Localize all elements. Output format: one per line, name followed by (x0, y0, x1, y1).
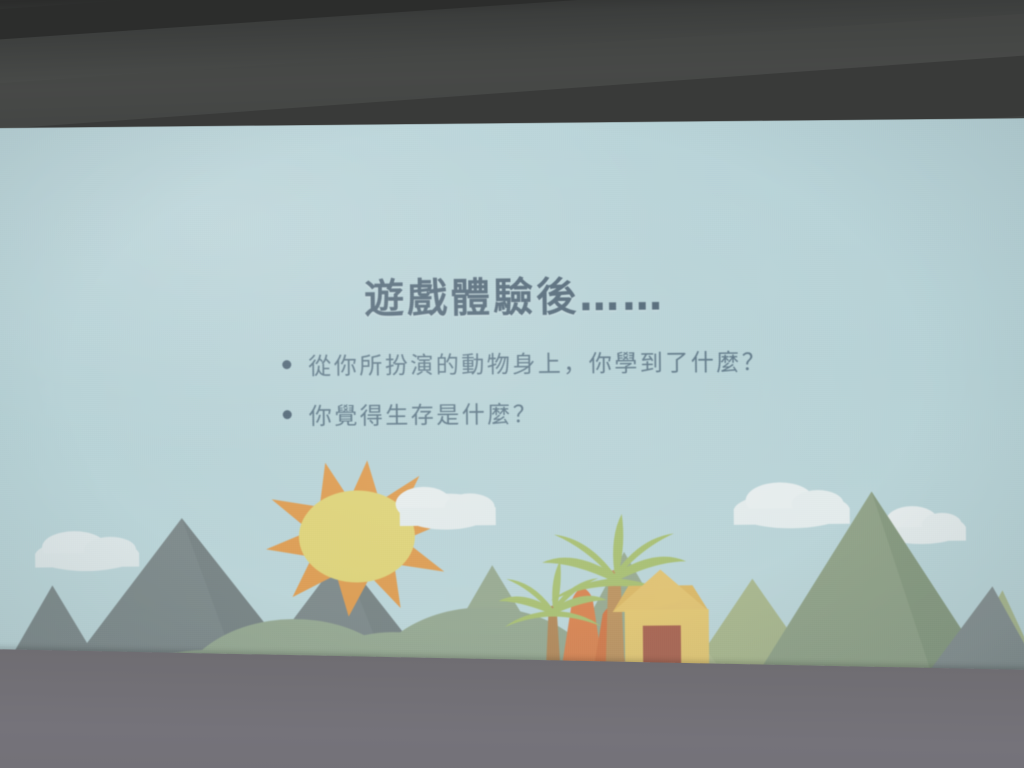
projected-slide: 遊戲體驗後…… 從你所扮演的動物身上，你學到了什麼？ 你覺得生存是什麼？ (0, 118, 1024, 688)
slide-bullet-list: 從你所扮演的動物身上，你學到了什麼？ 你覺得生存是什麼？ (282, 341, 923, 447)
cloud-center (395, 486, 495, 530)
cloud-right-large (733, 482, 849, 529)
projection-screen: 遊戲體驗後…… 從你所扮演的動物身上，你學到了什麼？ 你覺得生存是什麼？ (0, 118, 1024, 688)
bullet-text: 你覺得生存是什麼？ (309, 395, 539, 431)
list-item: 從你所扮演的動物身上，你學到了什麼？ (282, 341, 922, 381)
photo-of-projected-slide: 遊戲體驗後…… 從你所扮演的動物身上，你學到了什麼？ 你覺得生存是什麼？ (0, 0, 1024, 768)
bullet-dot-icon (283, 410, 292, 419)
bullet-text: 從你所扮演的動物身上，你學到了什麼？ (308, 343, 767, 381)
slide-title: 遊戲體驗後…… (0, 260, 1024, 328)
wall-below-screen (0, 648, 1024, 768)
sun (265, 460, 447, 618)
cloud-left (35, 531, 139, 572)
list-item: 你覺得生存是什麼？ (283, 391, 923, 431)
bullet-dot-icon (282, 360, 291, 369)
